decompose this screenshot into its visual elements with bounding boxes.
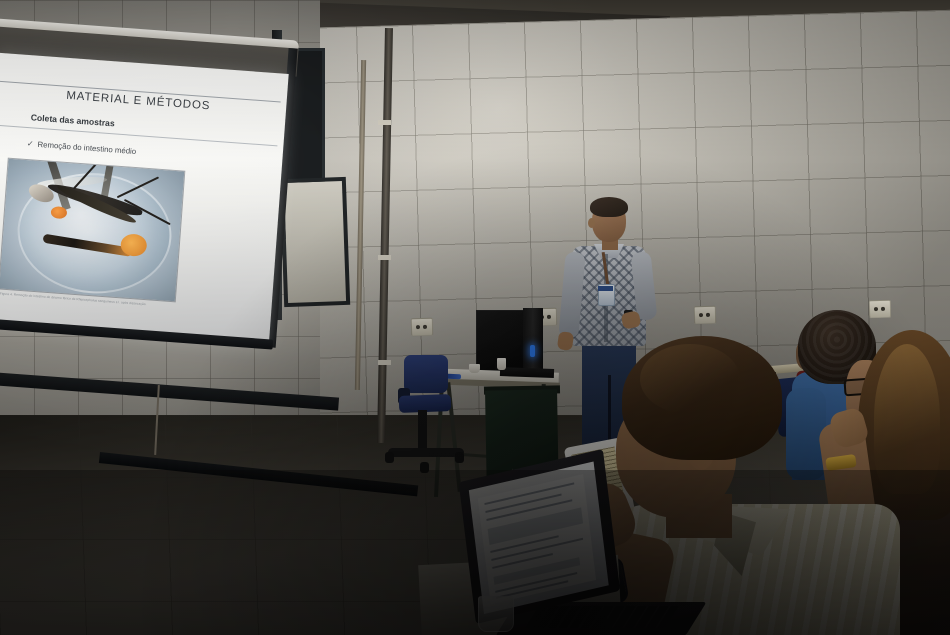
pipe-clip (378, 360, 391, 365)
presenter-hair (590, 197, 628, 217)
keyboard (500, 367, 554, 378)
pc-tower (523, 308, 543, 374)
slide-figure-image (0, 158, 185, 303)
office-chair-backrest (404, 355, 448, 393)
laptop-document (478, 474, 596, 604)
power-led-indicator (530, 345, 535, 357)
plastic-cup-foreground (478, 596, 514, 632)
classroom-photo-scene: MATERIAL E MÉTODOS Coleta das amostras ✓… (0, 0, 950, 635)
presentation-slide: MATERIAL E MÉTODOS Coleta das amostras ✓… (0, 52, 289, 345)
screen-canvas: MATERIAL E MÉTODOS Coleta das amostras ✓… (0, 52, 289, 345)
presenter-ear (588, 218, 595, 228)
projection-screen: MATERIAL E MÉTODOS Coleta das amostras ✓… (0, 18, 304, 370)
pipe-clip (378, 120, 391, 125)
power-outlet (694, 306, 716, 325)
pipe-clip (378, 255, 391, 260)
power-outlet (411, 318, 433, 337)
badge-header-strip (598, 286, 613, 291)
man-hair-highlight (640, 344, 740, 414)
desk-cup (469, 364, 480, 373)
laptop-keyboard[interactable] (525, 606, 679, 628)
office-chair-post (418, 410, 427, 452)
slide-bullet-item: ✓ Remoção do intestino médio (27, 139, 137, 156)
slide-subtitle: Coleta das amostras (30, 112, 115, 128)
office-chair-base (388, 448, 464, 457)
slide-bullet-text: Remoção do intestino médio (37, 140, 136, 156)
chair-caster (455, 452, 464, 463)
checkmark-icon: ✓ (27, 139, 34, 148)
paper-cup (497, 358, 506, 370)
blue-desk-object (446, 374, 461, 380)
chair-caster (420, 462, 429, 473)
chair-caster (385, 452, 394, 463)
